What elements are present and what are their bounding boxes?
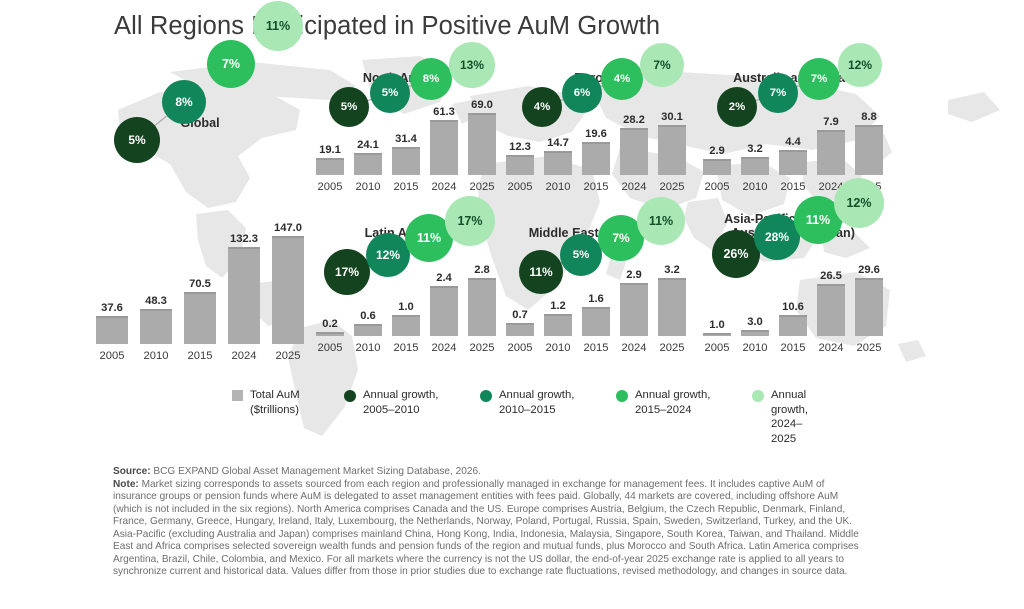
bar-value-label: 14.7: [547, 137, 569, 149]
bar-value-label: 1.0: [398, 301, 414, 313]
bar-value-label: 26.5: [820, 270, 842, 282]
bar-slot: 19.62015: [582, 125, 610, 175]
bar-slot: 37.62005: [96, 236, 128, 344]
bar-group-australia-and-japan: 2.920053.220104.420157.920248.82025: [703, 125, 883, 175]
bar-value-label: 7.9: [823, 116, 839, 128]
bar-year-label: 2010: [743, 342, 768, 354]
growth-bubble-2015-2024: 8%: [410, 58, 452, 100]
growth-bubble-2010-2015: 7%: [758, 73, 798, 113]
growth-bubble-2005-2010: 5%: [329, 87, 369, 127]
growth-bubble-2005-2010: 11%: [519, 250, 563, 294]
bar-slot: 69.02025: [468, 113, 496, 175]
bar: [817, 284, 845, 336]
legend-item-growth-2010-2015[interactable]: Annual growth, 2010–2015: [480, 388, 574, 417]
bar-year-label: 2015: [394, 342, 419, 354]
bar-slot: 29.62025: [855, 278, 883, 336]
bar-year-label: 2015: [394, 181, 419, 193]
bar-year-label: 2015: [781, 342, 806, 354]
legend-item-growth-2024-2025[interactable]: Annual growth, 2024–2025: [752, 388, 808, 446]
bar-value-label: 30.1: [661, 111, 683, 123]
bar-year-label: 2005: [508, 342, 533, 354]
bar-value-label: 48.3: [145, 295, 167, 307]
page-title: All Regions Participated in Positive AuM…: [114, 12, 660, 41]
chart-page: All Regions Participated in Positive AuM…: [0, 0, 1024, 609]
bar-slot: 132.32024: [228, 236, 260, 344]
legend-label: Annual growth, 2015–2024: [635, 388, 710, 417]
bar-year-label: 2025: [660, 181, 685, 193]
bar: [741, 157, 769, 175]
bar: [430, 120, 458, 175]
bar-year-label: 2005: [705, 181, 730, 193]
panel-north-america: North America19.1200524.1201031.4201561.…: [313, 71, 499, 195]
growth-bubble-2005-2010: 4%: [522, 87, 562, 127]
growth-bubble-2024-2025: 17%: [445, 196, 495, 246]
bar: [582, 142, 610, 175]
bar: [658, 125, 686, 175]
bar-slot: 28.22024: [620, 125, 648, 175]
bar: [430, 286, 458, 336]
bar-slot: 30.12025: [658, 125, 686, 175]
bar: [779, 150, 807, 175]
bar-slot: 70.52015: [184, 236, 216, 344]
bar-value-label: 2.9: [709, 145, 725, 157]
bar: [703, 333, 731, 336]
bar-slot: 2.92024: [620, 278, 648, 336]
bar-year-label: 2005: [508, 181, 533, 193]
bar-value-label: 2.9: [626, 269, 642, 281]
growth-bubble-2024-2025: 11%: [637, 197, 685, 245]
bar: [544, 151, 572, 175]
bar-year-label: 2024: [622, 342, 647, 354]
bar-slot: 14.72010: [544, 125, 572, 175]
bar: [96, 316, 128, 344]
bar-value-label: 1.6: [588, 293, 604, 305]
bar-value-label: 12.3: [509, 141, 531, 153]
panel-latin-america: Latin America0.220050.620101.020152.4202…: [313, 226, 499, 356]
bar-group-europe: 12.3200514.7201019.6201528.2202430.12025: [508, 125, 684, 175]
bar-value-label: 132.3: [230, 233, 258, 245]
bar: [392, 147, 420, 175]
bar-value-label: 2.4: [436, 272, 452, 284]
bar: [620, 128, 648, 175]
bar-slot: 61.32024: [430, 113, 458, 175]
bar-year-label: 2010: [144, 350, 169, 362]
bar: [582, 307, 610, 336]
growth-bubble-2005-2010: 26%: [712, 230, 760, 278]
bar: [741, 330, 769, 336]
bar-year-label: 2025: [276, 350, 301, 362]
bar-slot: 10.62015: [779, 278, 807, 336]
bar-value-label: 147.0: [274, 222, 302, 234]
bar: [140, 309, 172, 344]
bar-value-label: 3.2: [747, 143, 763, 155]
bar: [392, 315, 420, 336]
bar-slot: 2.42024: [430, 278, 458, 336]
growth-bubble-2024-2025: 13%: [449, 42, 495, 88]
bar-slot: 2.92005: [703, 125, 731, 175]
bar: [620, 283, 648, 336]
bar-value-label: 3.0: [747, 316, 763, 328]
bar-value-label: 28.2: [623, 114, 645, 126]
chart-legend: Total AuM ($trillions)Annual growth, 200…: [232, 388, 792, 432]
growth-bubble-2015-2024: 4%: [601, 58, 643, 100]
bar-year-label: 2025: [470, 342, 495, 354]
growth-bubble-2010-2015: 5%: [370, 73, 410, 113]
growth-bubble-2010-2015: 5%: [560, 234, 602, 276]
bar: [855, 125, 883, 175]
bar-year-label: 2005: [318, 342, 343, 354]
bar-value-label: 8.8: [861, 111, 877, 123]
legend-label: Annual growth, 2005–2010: [363, 388, 438, 417]
panel-australia-and-japan: Australia and Japan2.920053.220104.42015…: [703, 71, 883, 195]
footnote-source-text: BCG EXPAND Global Asset Management Marke…: [151, 466, 481, 477]
bar-value-label: 4.4: [785, 136, 801, 148]
growth-bubble-2024-2025: 12%: [838, 43, 882, 87]
legend-item-total-aum[interactable]: Total AuM ($trillions): [232, 388, 300, 417]
bar-value-label: 37.6: [101, 302, 123, 314]
bar-value-label: 10.6: [782, 301, 804, 313]
bar-value-label: 19.1: [319, 144, 341, 156]
legend-swatch-growth-2005-2010-icon: [344, 390, 356, 402]
bar-value-label: 70.5: [189, 278, 211, 290]
bar-year-label: 2005: [100, 350, 125, 362]
bar-year-label: 2010: [546, 342, 571, 354]
bar-slot: 1.02005: [703, 278, 731, 336]
panel-europe: Europe12.3200514.7201019.6201528.2202430…: [508, 71, 684, 195]
bar-year-label: 2025: [660, 342, 685, 354]
bar-year-label: 2015: [584, 181, 609, 193]
legend-label: Annual growth, 2010–2015: [499, 388, 574, 417]
bar-value-label: 0.2: [322, 318, 338, 330]
growth-bubble-2010-2015: 8%: [162, 80, 206, 124]
bar-slot: 4.42015: [779, 125, 807, 175]
bar: [779, 315, 807, 336]
legend-label: Total AuM ($trillions): [250, 388, 300, 417]
footnote-note: Note: Market sizing corresponds to asset…: [113, 479, 870, 579]
growth-bubble-2024-2025: 12%: [834, 178, 884, 228]
bar: [817, 130, 845, 175]
bar: [544, 314, 572, 336]
growth-bubble-2005-2010: 2%: [717, 87, 757, 127]
bar-year-label: 2024: [819, 342, 844, 354]
bar-year-label: 2010: [546, 181, 571, 193]
bar: [184, 292, 216, 344]
bar-group-asia-pacific: 1.020053.0201010.6201526.5202429.62025: [703, 278, 883, 336]
bar-year-label: 2024: [622, 181, 647, 193]
growth-bubble-2015-2024: 7%: [798, 58, 840, 100]
legend-swatch-total-aum-icon: [232, 390, 243, 401]
bar-slot: 12.32005: [506, 125, 534, 175]
bar-value-label: 31.4: [395, 133, 417, 145]
bar-year-label: 2015: [584, 342, 609, 354]
bar-year-label: 2025: [470, 181, 495, 193]
footnote-note-label: Note:: [113, 479, 139, 490]
bar-year-label: 2005: [318, 181, 343, 193]
bar-year-label: 2015: [188, 350, 213, 362]
bar: [855, 278, 883, 336]
panel-global: Global37.6200548.3201070.52015132.320241…: [95, 116, 305, 364]
bar-slot: 1.02015: [392, 278, 420, 336]
bar-year-label: 2010: [743, 181, 768, 193]
footnote-note-text: Market sizing corresponds to assets sour…: [113, 479, 859, 578]
bar-value-label: 19.6: [585, 128, 607, 140]
bar-slot: 3.22025: [658, 278, 686, 336]
bar-year-label: 2024: [432, 342, 457, 354]
bar-value-label: 2.8: [474, 264, 490, 276]
bar-year-label: 2010: [356, 181, 381, 193]
bar-value-label: 69.0: [471, 99, 493, 111]
bar-value-label: 3.2: [664, 264, 680, 276]
growth-bubble-2024-2025: 7%: [640, 43, 684, 87]
bar: [468, 113, 496, 175]
bar: [316, 332, 344, 336]
growth-bubble-2010-2015: 6%: [562, 73, 602, 113]
bar-value-label: 0.7: [512, 309, 528, 321]
panel-asia-pacific: Asia-Pacific (excludingAustralia and Jap…: [703, 212, 883, 356]
bar-slot: 7.92024: [817, 125, 845, 175]
growth-bubble-2015-2024: 7%: [207, 40, 255, 88]
bar-group-global: 37.6200548.3201070.52015132.32024147.020…: [95, 236, 305, 344]
bar-year-label: 2005: [705, 342, 730, 354]
bar: [506, 155, 534, 175]
bar-slot: 3.22010: [741, 125, 769, 175]
bar-year-label: 2024: [432, 181, 457, 193]
bar-slot: 1.62015: [582, 278, 610, 336]
growth-bubble-2005-2010: 5%: [114, 117, 160, 163]
bar-value-label: 1.2: [550, 300, 566, 312]
legend-item-growth-2015-2024[interactable]: Annual growth, 2015–2024: [616, 388, 710, 417]
bar-slot: 3.02010: [741, 278, 769, 336]
bar-year-label: 2025: [857, 342, 882, 354]
bar: [354, 324, 382, 336]
bar-value-label: 24.1: [357, 139, 379, 151]
bar-value-label: 29.6: [858, 264, 880, 276]
bar: [272, 236, 304, 344]
bar: [228, 247, 260, 344]
bar-year-label: 2024: [232, 350, 257, 362]
bar: [658, 278, 686, 336]
bar-slot: 2.82025: [468, 278, 496, 336]
panel-middle-east-and-africa: Middle East and Africa0.720051.220101.62…: [508, 226, 684, 356]
bar: [468, 278, 496, 336]
footnote-source-label: Source:: [113, 466, 151, 477]
legend-label: Annual growth, 2024–2025: [771, 388, 808, 446]
bar-slot: 147.02025: [272, 236, 304, 344]
bar-slot: 48.32010: [140, 236, 172, 344]
bar-year-label: 2015: [781, 181, 806, 193]
bar: [703, 159, 731, 175]
footnote-block: Source: BCG EXPAND Global Asset Manageme…: [113, 466, 870, 579]
footnote-source: Source: BCG EXPAND Global Asset Manageme…: [113, 466, 870, 479]
growth-bubble-2010-2015: 12%: [366, 233, 410, 277]
bar-slot: 31.42015: [392, 113, 420, 175]
bar: [506, 323, 534, 336]
bar-value-label: 61.3: [433, 106, 455, 118]
bar-slot: 8.82025: [855, 125, 883, 175]
legend-swatch-growth-2024-2025-icon: [752, 390, 764, 402]
bar: [316, 158, 344, 175]
legend-swatch-growth-2010-2015-icon: [480, 390, 492, 402]
bar-value-label: 1.0: [709, 319, 725, 331]
legend-item-growth-2005-2010[interactable]: Annual growth, 2005–2010: [344, 388, 438, 417]
bar-value-label: 0.6: [360, 310, 376, 322]
bar-slot: 26.52024: [817, 278, 845, 336]
bar-year-label: 2010: [356, 342, 381, 354]
growth-bubble-2024-2025: 11%: [253, 1, 303, 51]
growth-bubble-2005-2010: 17%: [324, 249, 370, 295]
legend-swatch-growth-2015-2024-icon: [616, 390, 628, 402]
bar: [354, 153, 382, 175]
